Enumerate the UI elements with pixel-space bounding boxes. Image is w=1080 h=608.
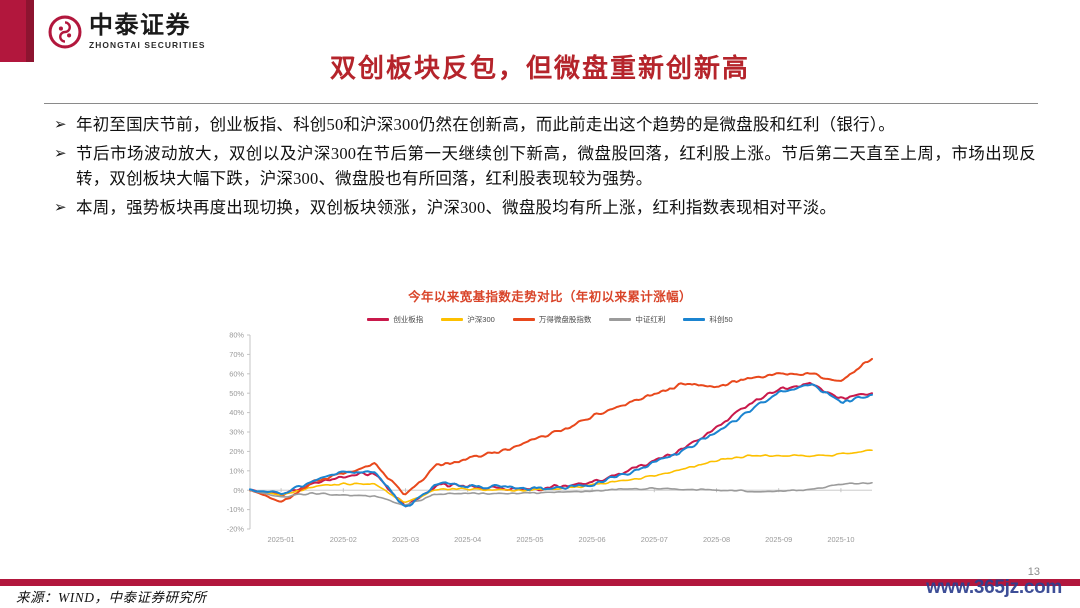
- page-title: 双创板块反包，但微盘重新创新高: [0, 48, 1080, 85]
- chart-title: 今年以来宽基指数走势对比（年初以来累计涨幅）: [210, 286, 890, 305]
- svg-text:0%: 0%: [233, 486, 244, 495]
- svg-text:2025-07: 2025-07: [641, 535, 668, 544]
- chart-plot-area: -20%-10%0%10%20%30%40%50%60%70%80%2025-0…: [210, 329, 890, 551]
- svg-text:2025-02: 2025-02: [330, 535, 357, 544]
- legend-swatch: [441, 318, 463, 321]
- svg-text:50%: 50%: [229, 389, 244, 398]
- list-item: ➢ 节后市场波动放大，双创以及沪深300在节后第一天继续创下新高，微盘股回落，红…: [54, 141, 1036, 191]
- chart-series-line: [250, 384, 872, 506]
- title-divider: [44, 103, 1038, 104]
- legend-label: 科创50: [709, 314, 732, 325]
- svg-text:20%: 20%: [229, 447, 244, 456]
- svg-text:2025-03: 2025-03: [392, 535, 419, 544]
- list-item: ➢ 年初至国庆节前，创业板指、科创50和沪深300仍然在创新高，而此前走出这个趋…: [54, 112, 1036, 137]
- chart-series-line: [250, 359, 872, 502]
- bullet-arrow-icon: ➢: [54, 195, 76, 220]
- legend-label: 中证红利: [635, 314, 665, 325]
- svg-text:2025-06: 2025-06: [579, 535, 606, 544]
- brand-logo: 中泰证券 ZHONGTAI SECURITIES: [48, 14, 206, 49]
- svg-text:30%: 30%: [229, 428, 244, 437]
- legend-swatch: [683, 318, 705, 321]
- list-item: ➢ 本周，强势板块再度出现切换，双创板块领涨，沪深300、微盘股均有所上涨，红利…: [54, 195, 1036, 220]
- svg-text:70%: 70%: [229, 350, 244, 359]
- index-comparison-chart: 今年以来宽基指数走势对比（年初以来累计涨幅） 创业板指沪深300万得微盘股指数中…: [210, 286, 890, 554]
- legend-swatch: [367, 318, 389, 321]
- chart-legend: 创业板指沪深300万得微盘股指数中证红利科创50: [210, 314, 890, 325]
- svg-text:40%: 40%: [229, 408, 244, 417]
- watermark: www.365jz.com: [926, 577, 1062, 599]
- zhongtai-logo-icon: [48, 15, 82, 49]
- svg-text:10%: 10%: [229, 466, 244, 475]
- bullet-list: ➢ 年初至国庆节前，创业板指、科创50和沪深300仍然在创新高，而此前走出这个趋…: [54, 112, 1036, 224]
- svg-text:2025-01: 2025-01: [268, 535, 295, 544]
- svg-text:80%: 80%: [229, 331, 244, 340]
- legend-label: 沪深300: [467, 314, 495, 325]
- bullet-text: 年初至国庆节前，创业板指、科创50和沪深300仍然在创新高，而此前走出这个趋势的…: [76, 112, 1036, 137]
- svg-text:2025-05: 2025-05: [516, 535, 543, 544]
- footer-accent-bar: [0, 579, 1080, 586]
- brand-name-cn: 中泰证券: [89, 14, 206, 38]
- legend-label: 万得微盘股指数: [539, 314, 592, 325]
- bullet-text: 本周，强势板块再度出现切换，双创板块领涨，沪深300、微盘股均有所上涨，红利指数…: [76, 195, 1036, 220]
- legend-swatch: [609, 318, 631, 321]
- legend-swatch: [513, 318, 535, 321]
- legend-item: 科创50: [683, 314, 732, 325]
- bullet-text: 节后市场波动放大，双创以及沪深300在节后第一天继续创下新高，微盘股回落，红利股…: [76, 141, 1036, 191]
- bullet-arrow-icon: ➢: [54, 141, 76, 166]
- source-note: 来源：WIND，中泰证券研究所: [16, 586, 207, 606]
- svg-text:2025-04: 2025-04: [454, 535, 481, 544]
- svg-text:60%: 60%: [229, 369, 244, 378]
- legend-label: 创业板指: [393, 314, 423, 325]
- svg-text:2025-08: 2025-08: [703, 535, 730, 544]
- svg-text:-20%: -20%: [227, 525, 245, 534]
- svg-text:2025-09: 2025-09: [765, 535, 792, 544]
- svg-text:-10%: -10%: [227, 505, 245, 514]
- legend-item: 创业板指: [367, 314, 423, 325]
- legend-item: 万得微盘股指数: [513, 314, 592, 325]
- legend-item: 沪深300: [441, 314, 495, 325]
- bullet-arrow-icon: ➢: [54, 112, 76, 137]
- legend-item: 中证红利: [609, 314, 665, 325]
- svg-text:2025-10: 2025-10: [827, 535, 854, 544]
